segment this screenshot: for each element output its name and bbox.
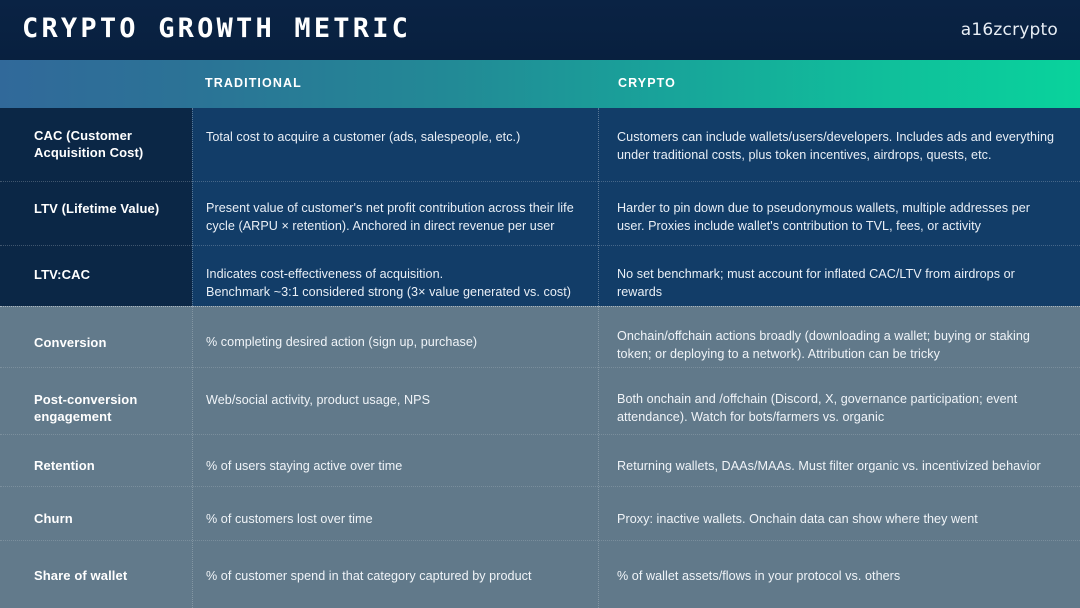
table-row: Conversion % completing desired action (…	[0, 306, 1080, 367]
table-row: Post-conversion engagement Web/social ac…	[0, 367, 1080, 434]
column-header-traditional: TRADITIONAL	[205, 76, 302, 90]
column-header-crypto: CRYPTO	[618, 76, 676, 90]
cell-traditional: Indicates cost-effectiveness of acquisit…	[206, 266, 588, 301]
cell-crypto: Onchain/offchain actions broadly (downlo…	[617, 328, 1059, 363]
metric-label: Conversion	[34, 335, 184, 352]
table-row: Share of wallet % of customer spend in t…	[0, 540, 1080, 608]
cell-crypto: Customers can include wallets/users/deve…	[617, 129, 1059, 164]
column-header-band: TRADITIONAL CRYPTO	[0, 60, 1080, 108]
cell-traditional: Present value of customer's net profit c…	[206, 200, 588, 235]
metric-label: Retention	[34, 458, 184, 475]
cell-traditional: Total cost to acquire a customer (ads, s…	[206, 129, 588, 147]
row-divider	[0, 367, 1080, 368]
row-divider	[0, 540, 1080, 541]
table-row: LTV:CAC Indicates cost-effectiveness of …	[0, 245, 1080, 306]
cell-traditional: % completing desired action (sign up, pu…	[206, 334, 588, 352]
table-row: LTV (Lifetime Value) Present value of cu…	[0, 181, 1080, 245]
table-row: Churn % of customers lost over time Prox…	[0, 486, 1080, 540]
page-title: CRYPTO GROWTH METRIC	[22, 13, 411, 44]
cell-traditional: Web/social activity, product usage, NPS	[206, 392, 588, 410]
cell-crypto: Both onchain and /offchain (Discord, X, …	[617, 391, 1059, 426]
table-row: Retention % of users staying active over…	[0, 434, 1080, 486]
cell-traditional: % of customers lost over time	[206, 511, 588, 529]
a16zcrypto-logo: a16zcrypto	[961, 20, 1058, 40]
row-divider	[0, 486, 1080, 487]
cell-crypto: Harder to pin down due to pseudonymous w…	[617, 200, 1059, 235]
metric-label: Churn	[34, 511, 184, 528]
row-divider	[0, 181, 1080, 182]
cell-crypto: Proxy: inactive wallets. Onchain data ca…	[617, 511, 1059, 529]
table-row: CAC (Customer Acquisition Cost) Total co…	[0, 108, 1080, 181]
cell-crypto: % of wallet assets/flows in your protoco…	[617, 568, 1059, 586]
metric-label: Post-conversion engagement	[34, 392, 184, 425]
metric-label: CAC (Customer Acquisition Cost)	[34, 128, 184, 161]
section-unit-economics: CAC (Customer Acquisition Cost) Total co…	[0, 108, 1080, 306]
cell-crypto: No set benchmark; must account for infla…	[617, 266, 1059, 301]
cell-traditional: % of users staying active over time	[206, 458, 588, 476]
cell-traditional: % of customer spend in that category cap…	[206, 568, 626, 586]
cell-crypto: Returning wallets, DAAs/MAAs. Must filte…	[617, 458, 1059, 476]
row-divider	[0, 245, 1080, 246]
metric-label: LTV (Lifetime Value)	[34, 201, 184, 218]
metric-label: LTV:CAC	[34, 267, 184, 284]
metric-label: Share of wallet	[34, 568, 184, 585]
row-divider	[0, 434, 1080, 435]
title-bar: CRYPTO GROWTH METRIC a16zcrypto	[0, 0, 1080, 60]
crypto-growth-metric-table: CRYPTO GROWTH METRIC a16zcrypto TRADITIO…	[0, 0, 1080, 608]
section-engagement-metrics: Conversion % completing desired action (…	[0, 306, 1080, 608]
